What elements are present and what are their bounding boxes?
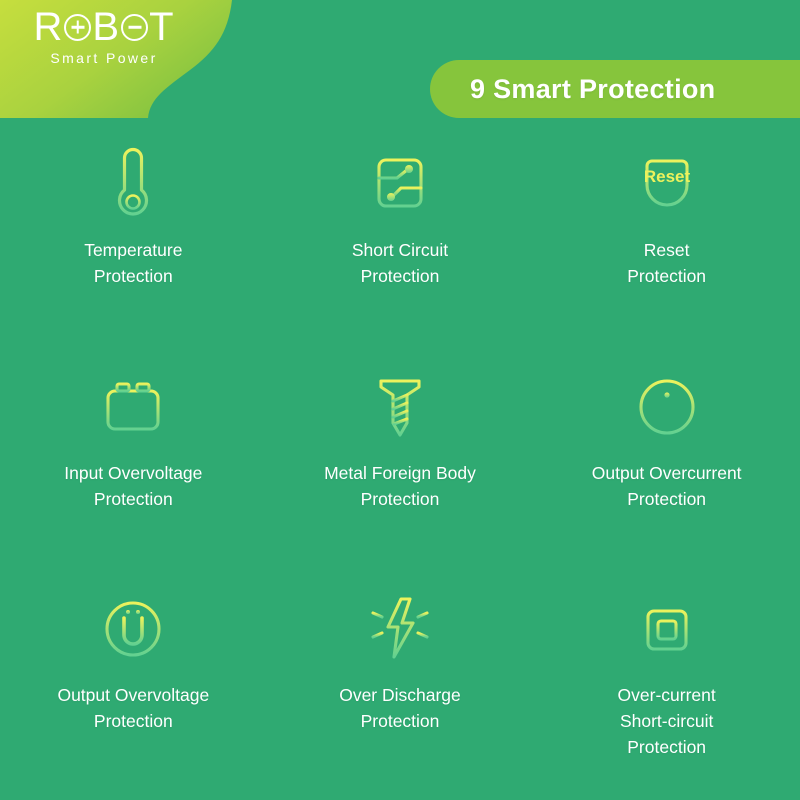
lightning-bolt-icon	[357, 587, 443, 673]
feature-label: Input Overvoltage Protection	[64, 461, 202, 513]
feature-label-line1: Input Overvoltage	[64, 461, 202, 487]
feature-label-line1: Over-current	[618, 683, 716, 709]
feature-label: Temperature Protection	[84, 238, 182, 290]
feature-label-line1: Output Overvoltage	[57, 683, 209, 709]
feature-label-line1: Over Discharge	[339, 683, 461, 709]
circuit-chip-icon	[357, 142, 443, 228]
feature-item-reset-protection: Reset Reset Protection	[533, 132, 800, 355]
brand-tagline: Smart Power	[14, 50, 194, 66]
feature-item-input-overvoltage-protection: Input Overvoltage Protection	[0, 355, 267, 578]
feature-item-short-circuit-protection: Short Circuit Protection	[267, 132, 534, 355]
feature-label-line2: Protection	[57, 709, 209, 735]
feature-label-line2: Protection	[64, 487, 202, 513]
feature-label-line2: Protection	[592, 487, 742, 513]
thermometer-icon	[90, 142, 176, 228]
feature-label-line1: Temperature	[84, 238, 182, 264]
feature-label-line2: Protection	[627, 264, 706, 290]
feature-label-line2: Short-circuit	[618, 709, 716, 735]
feature-item-metal-foreign-body-protection: Metal Foreign Body Protection	[267, 355, 534, 578]
feature-label: Output Overvoltage Protection	[57, 683, 209, 735]
logo-letter-r: R	[33, 6, 63, 48]
feature-item-over-current-short-circuit-protection: Over-current Short-circuit Protection	[533, 577, 800, 800]
feature-label-line2: Protection	[339, 709, 461, 735]
feature-label-line1: Output Overcurrent	[592, 461, 742, 487]
feature-label-line3: Protection	[618, 735, 716, 761]
feature-item-output-overvoltage-protection: Output Overvoltage Protection	[0, 577, 267, 800]
brand-logo-text: R B T Smart Power	[14, 6, 194, 66]
feature-label: Over Discharge Protection	[339, 683, 461, 735]
plus-circle-icon	[64, 14, 91, 41]
feature-label: Reset Protection	[627, 238, 706, 290]
minus-circle-icon	[121, 14, 148, 41]
feature-label-line1: Metal Foreign Body	[324, 461, 476, 487]
feature-item-output-overcurrent-protection: Output Overcurrent Protection	[533, 355, 800, 578]
logo-letter-b: B	[92, 6, 120, 48]
feature-label-line1: Reset	[627, 238, 706, 264]
feature-label: Short Circuit Protection	[352, 238, 448, 290]
feature-label-line2: Protection	[324, 487, 476, 513]
feature-item-over-discharge-protection: Over Discharge Protection	[267, 577, 534, 800]
logo-letter-t: T	[149, 6, 174, 48]
voltage-u-circle-icon	[90, 587, 176, 673]
banner-title: 9 Smart Protection	[470, 74, 715, 105]
screw-icon	[357, 365, 443, 451]
header-banner: 9 Smart Protection	[430, 60, 800, 118]
feature-label: Output Overcurrent Protection	[592, 461, 742, 513]
reset-button-icon: Reset	[624, 142, 710, 228]
battery-icon	[90, 365, 176, 451]
feature-label-line2: Protection	[84, 264, 182, 290]
feature-label-line2: Protection	[352, 264, 448, 290]
info-circle-icon	[624, 365, 710, 451]
feature-grid: Temperature Protection	[0, 132, 800, 800]
feature-label-line1: Short Circuit	[352, 238, 448, 264]
feature-label: Over-current Short-circuit Protection	[618, 683, 716, 761]
cpu-chip-icon	[624, 587, 710, 673]
feature-item-temperature-protection: Temperature Protection	[0, 132, 267, 355]
feature-label: Metal Foreign Body Protection	[324, 461, 476, 513]
brand-logo-badge: R B T Smart Power	[0, 0, 310, 118]
reset-icon-text: Reset	[644, 167, 691, 186]
brand-wordmark: R B T	[14, 6, 194, 48]
